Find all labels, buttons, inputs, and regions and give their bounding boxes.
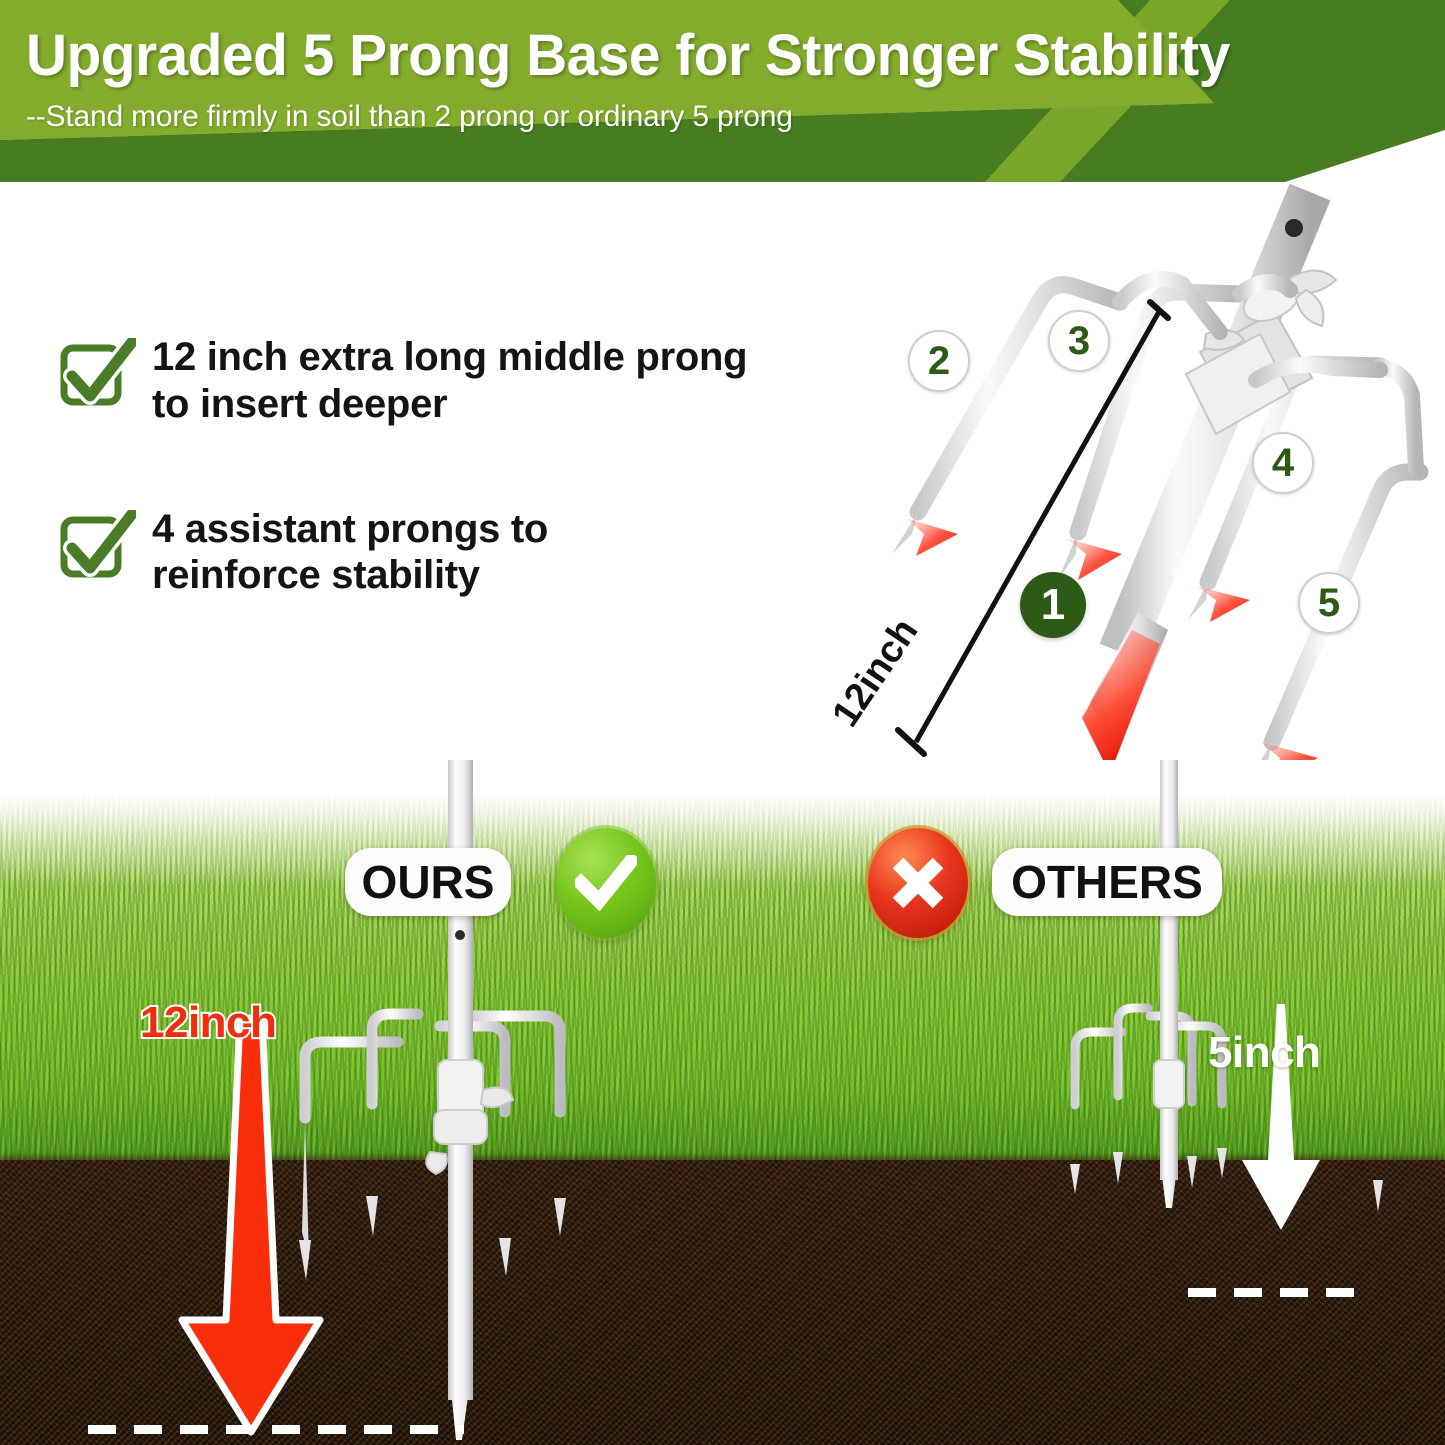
label-ours-text: OURS xyxy=(362,855,495,909)
depth-label-others: 5inch xyxy=(1208,1028,1320,1078)
feature-item-label: 12 inch extra long middle prong to inser… xyxy=(152,332,747,428)
callout-number: 2 xyxy=(928,341,950,381)
cross-circle-icon xyxy=(868,828,968,938)
feature-item-assistant-prongs: 4 assistant prongs to reinforce stabilit… xyxy=(60,504,880,600)
callout-number: 3 xyxy=(1068,321,1090,361)
callout-number: 1 xyxy=(1041,583,1065,627)
callout-badge-2: 2 xyxy=(908,330,970,392)
product-diagram: 2 3 4 5 1 12inch xyxy=(820,182,1445,760)
page-title: Upgraded 5 Prong Base for Stronger Stabi… xyxy=(26,22,1230,89)
callout-badge-5: 5 xyxy=(1298,572,1360,634)
checkbox-check-icon xyxy=(60,338,136,408)
feature-list: 12 inch extra long middle prong to inser… xyxy=(60,332,880,675)
depth-arrow-ours xyxy=(182,1018,320,1432)
header-text-group: Upgraded 5 Prong Base for Stronger Stabi… xyxy=(0,0,1445,182)
checkbox-check-icon xyxy=(60,510,136,580)
depth-dash-others xyxy=(1188,1288,1372,1297)
callout-number: 5 xyxy=(1318,583,1340,623)
callout-badge-1: 1 xyxy=(1020,572,1086,638)
stakes-illustration xyxy=(0,760,1445,1445)
header-banner: Upgraded 5 Prong Base for Stronger Stabi… xyxy=(0,0,1445,182)
depth-label-ours: 12inch xyxy=(140,998,276,1048)
page-subtitle: --Stand more firmly in soil than 2 prong… xyxy=(26,100,793,134)
depth-dash-ours xyxy=(88,1425,464,1434)
check-circle-icon xyxy=(556,828,656,938)
cross-glyph xyxy=(890,855,946,911)
feature-item-long-middle-prong: 12 inch extra long middle prong to inser… xyxy=(60,332,880,428)
label-others-text: OTHERS xyxy=(1011,855,1203,909)
comparison-scene: OURS OTHERS 12inch 5inch xyxy=(0,760,1445,1445)
callout-number: 4 xyxy=(1272,443,1294,483)
check-glyph xyxy=(575,855,637,911)
label-others: OTHERS xyxy=(992,848,1222,916)
infographic-root: Upgraded 5 Prong Base for Stronger Stabi… xyxy=(0,0,1445,1445)
label-ours: OURS xyxy=(345,848,511,916)
product-illustration xyxy=(820,182,1445,760)
top-body: 12 inch extra long middle prong to inser… xyxy=(0,182,1445,760)
callout-badge-3: 3 xyxy=(1048,310,1110,372)
callout-badge-4: 4 xyxy=(1252,432,1314,494)
feature-item-label: 4 assistant prongs to reinforce stabilit… xyxy=(152,504,548,600)
